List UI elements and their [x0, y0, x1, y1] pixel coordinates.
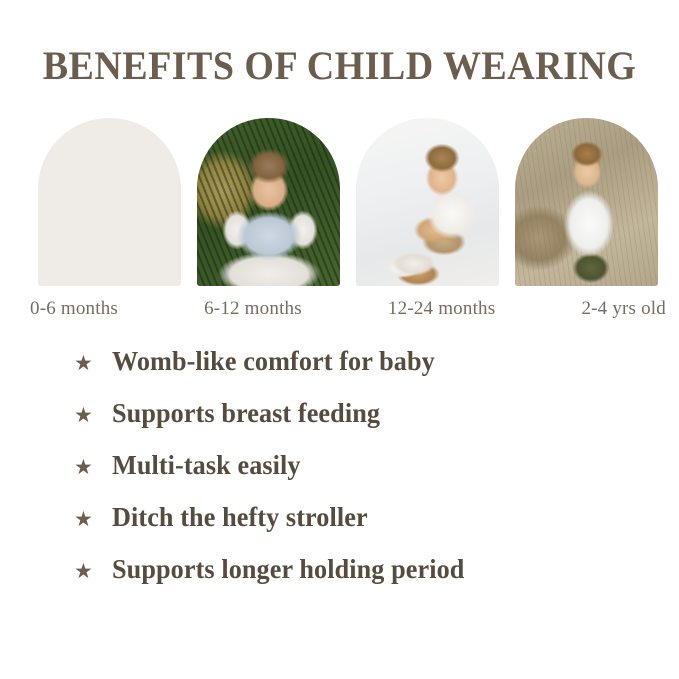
page-title: BENEFITS OF CHILD WEARING — [17, 46, 662, 86]
benefit-label: Womb-like comfort for baby — [112, 348, 435, 375]
benefit-item: ★ Supports longer holding period — [74, 556, 634, 608]
stage-cards-row — [38, 118, 658, 286]
stage-photo-toddler — [356, 118, 499, 286]
stage-label-12-24-months: 12-24 months — [388, 298, 495, 320]
star-icon: ★ — [74, 561, 112, 582]
benefit-label: Multi-task easily — [112, 452, 301, 479]
stage-card-2-4-yrs-old — [515, 118, 658, 286]
benefit-label: Supports longer holding period — [112, 556, 464, 583]
stage-label-0-6-months: 0-6 months — [30, 298, 118, 320]
star-icon: ★ — [74, 509, 112, 530]
star-icon: ★ — [74, 405, 112, 426]
stage-labels-row: 0-6 months 6-12 months 12-24 months 2-4 … — [30, 298, 666, 320]
benefit-item: ★ Multi-task easily — [74, 452, 634, 504]
stage-photo-infant — [197, 118, 340, 286]
page-title-container: BENEFITS OF CHILD WEARING — [0, 46, 679, 86]
stage-photo-newborn — [38, 118, 181, 286]
stage-card-12-24-months — [356, 118, 499, 286]
stage-label-2-4-yrs-old: 2-4 yrs old — [581, 298, 666, 320]
star-icon: ★ — [74, 353, 112, 374]
stage-card-6-12-months — [197, 118, 340, 286]
benefit-item: ★ Womb-like comfort for baby — [74, 348, 634, 400]
stage-label-6-12-months: 6-12 months — [204, 298, 302, 320]
benefit-label: Ditch the hefty stroller — [112, 504, 368, 531]
benefit-item: ★ Supports breast feeding — [74, 400, 634, 452]
benefit-label: Supports breast feeding — [112, 400, 380, 427]
benefits-list: ★ Womb-like comfort for baby ★ Supports … — [74, 348, 634, 608]
stage-card-0-6-months — [38, 118, 181, 286]
infographic-page: BENEFITS OF CHILD WEARING 0-6 months 6-1… — [0, 0, 679, 679]
benefit-item: ★ Ditch the hefty stroller — [74, 504, 634, 556]
stage-photo-preschooler — [515, 118, 658, 286]
star-icon: ★ — [74, 457, 112, 478]
